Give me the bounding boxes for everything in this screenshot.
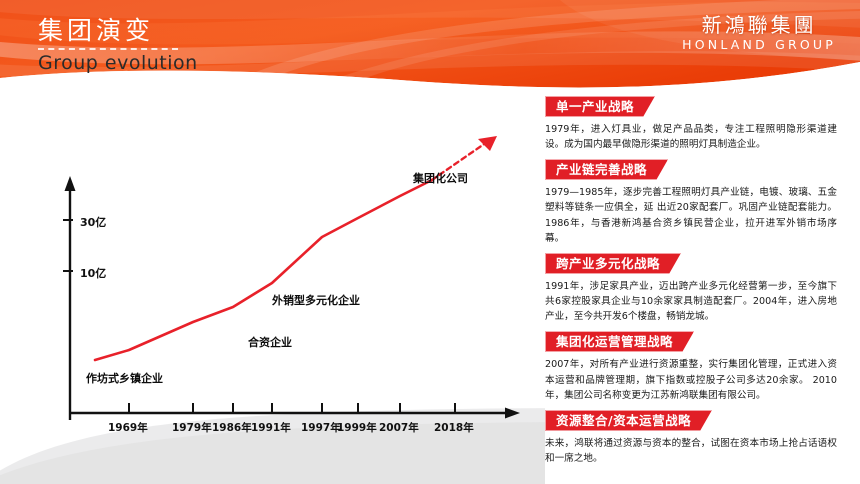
strategy-section: 跨产业多元化战略 1991年，涉足家具产业，迈出跨产业多元化经营第一步，至今旗下… xyxy=(545,253,860,324)
x-tick-label-1999: 1999年 xyxy=(337,420,377,435)
y-axis-arrow xyxy=(65,176,76,191)
section-body-text: 2007年，对所有产业进行资源重整，实行集团化管理，正式进入资本运营和品牌管理期… xyxy=(545,357,837,402)
strategy-section: 单一产业战略 1979年，进入灯具业，做足产品品类，专注工程照明隐形渠道建设。成… xyxy=(545,96,860,152)
section-body-text: 1979年，进入灯具业，做足产品品类，专注工程照明隐形渠道建设。成为国内最早做隐… xyxy=(545,122,837,152)
logo-text-cn: 新鴻聯集團 xyxy=(682,14,836,36)
strategy-section: 资源整合/资本运营战略 未来，鸿联将通过资源与资本的整合，试图在资本市场上抢占话… xyxy=(545,410,860,466)
strategy-sections-panel: 单一产业战略 1979年，进入灯具业，做足产品品类，专注工程照明隐形渠道建设。成… xyxy=(545,96,860,466)
x-tick-label-1991: 1991年 xyxy=(251,420,291,435)
slide-header: 集团演变 Group evolution 新鴻聯集團 HONLAND GROUP xyxy=(0,0,860,92)
section-body-text: 1991年，涉足家具产业，迈出跨产业多元化经营第一步，至今旗下共6家控股家具企业… xyxy=(545,279,837,324)
logo-text-en: HONLAND GROUP xyxy=(682,37,836,52)
annotation-group-company: 集团化公司 xyxy=(413,170,468,186)
series-line xyxy=(95,180,432,360)
company-logo: 新鴻聯集團 HONLAND GROUP xyxy=(682,14,836,52)
section-heading-banner: 产业链完善战略 xyxy=(545,159,668,180)
series-arrow-head xyxy=(478,136,497,151)
title-dashed-underline xyxy=(38,48,178,50)
x-tick-label-1979: 1979年 xyxy=(172,420,212,435)
strategy-section: 集团化运营管理战略 2007年，对所有产业进行资源重整，实行集团化管理，正式进入… xyxy=(545,331,860,402)
strategy-section: 产业链完善战略 1979—1985年，逐步完善工程照明灯具产业链，电镀、玻璃、五… xyxy=(545,159,860,246)
section-heading-banner: 单一产业战略 xyxy=(545,96,655,117)
x-tick-label-2007: 2007年 xyxy=(379,420,419,435)
annotation-export-diversified: 外销型多元化企业 xyxy=(272,292,360,308)
x-tick-label-1997: 1997年 xyxy=(301,420,341,435)
page-subtitle: Group evolution xyxy=(38,52,198,74)
evolution-line-chart: 30亿 10亿 1969年 1979年 1986年 1991年 1997年 19… xyxy=(0,92,545,484)
section-heading-banner: 资源整合/资本运营战略 xyxy=(545,410,712,431)
y-tick-label-10: 10亿 xyxy=(80,265,106,281)
section-heading-banner: 跨产业多元化战略 xyxy=(545,253,681,274)
page-title: 集团演变 xyxy=(38,18,154,43)
slide-canvas: 集团演变 Group evolution 新鴻聯集團 HONLAND GROUP xyxy=(0,0,860,484)
x-tick-label-1986: 1986年 xyxy=(212,420,252,435)
section-heading-banner: 集团化运营管理战略 xyxy=(545,331,694,352)
annotation-workshop: 作坊式乡镇企业 xyxy=(86,370,163,386)
x-tick-label-2018: 2018年 xyxy=(434,420,474,435)
section-body-text: 未来，鸿联将通过资源与资本的整合，试图在资本市场上抢占话语权和一席之地。 xyxy=(545,436,837,466)
x-tick-label-1969: 1969年 xyxy=(108,420,148,435)
annotation-joint-venture: 合资企业 xyxy=(248,334,292,350)
section-body-text: 1979—1985年，逐步完善工程照明灯具产业链，电镀、玻璃、五金塑料等链条一应… xyxy=(545,185,837,246)
y-tick-label-30: 30亿 xyxy=(80,214,106,230)
